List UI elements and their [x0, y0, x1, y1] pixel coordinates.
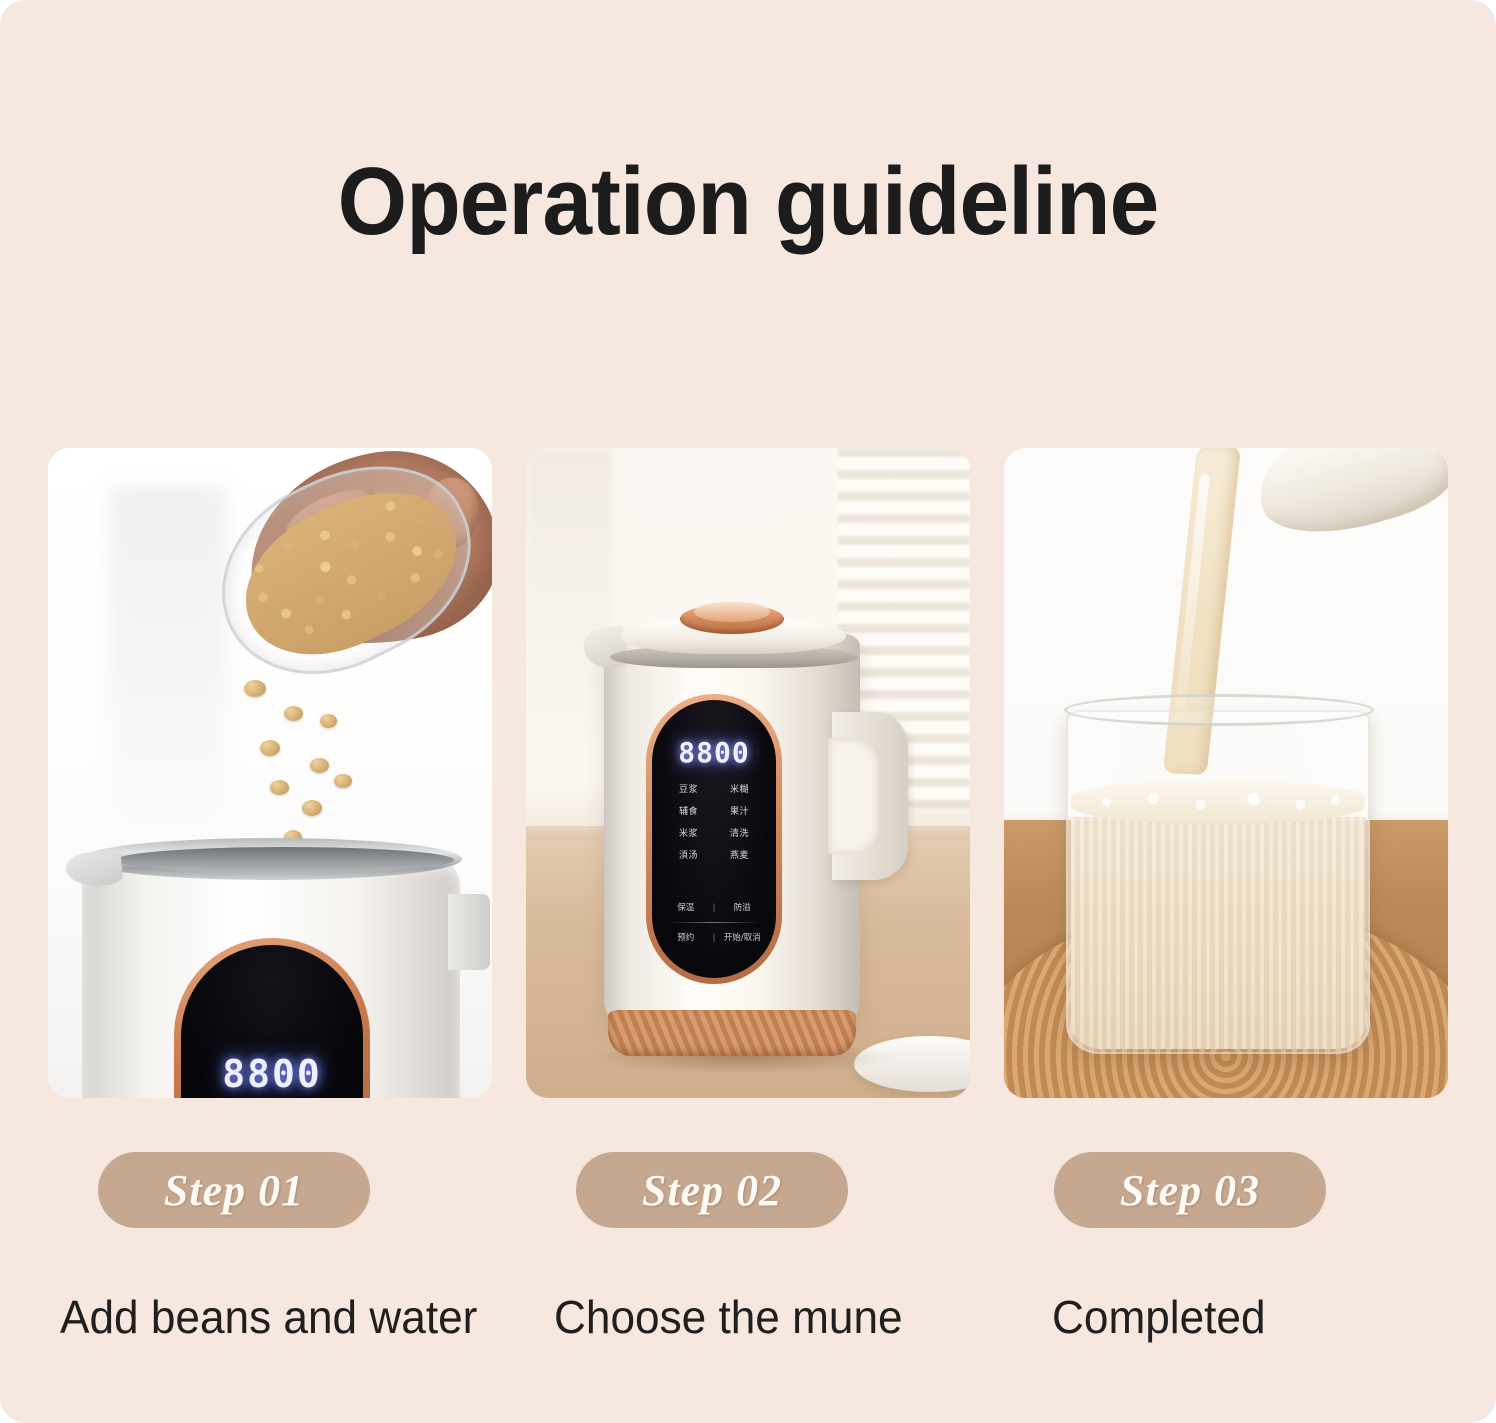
maker-handle: [448, 894, 490, 970]
falling-soybean: [310, 758, 329, 773]
step-1-badge-cell: Step 01: [48, 1152, 492, 1228]
step-2-caption: Choose the mune: [554, 1290, 953, 1344]
step-3-caption: Completed: [1052, 1290, 1432, 1344]
step-3-badge-label: Step 03: [1120, 1165, 1260, 1216]
divider: |: [711, 902, 718, 912]
operation-guideline-page: Operation guideline: [0, 0, 1496, 1423]
menu-button[interactable]: 米浆: [666, 830, 711, 839]
milk-foam: [1071, 780, 1365, 824]
keep-warm-button[interactable]: 保温: [664, 901, 708, 913]
page-title: Operation guideline: [52, 152, 1443, 253]
maker-handle: [832, 712, 908, 880]
menu-button[interactable]: 辅食: [666, 808, 711, 817]
step-3-caption-cell: Completed: [1004, 1290, 1448, 1360]
step-images-row: 8800: [48, 448, 1448, 1098]
menu-button[interactable]: 豆浆: [666, 786, 711, 795]
menu-button[interactable]: 清洗: [717, 830, 762, 839]
step-2-badge[interactable]: Step 02: [576, 1152, 848, 1228]
step-3-image: [1004, 448, 1448, 1098]
step-2-badge-label: Step 02: [642, 1165, 782, 1216]
falling-soybean: [320, 714, 337, 728]
falling-soybean: [260, 740, 280, 756]
control-row: 预约 | 开始/取消: [664, 931, 764, 943]
led-display: 8800: [181, 1052, 363, 1096]
control-row: 保温 | 防溢: [664, 901, 764, 913]
divider: |: [711, 932, 718, 942]
menu-button[interactable]: 米糊: [717, 786, 762, 795]
divider-line: [668, 922, 760, 923]
glass-rim: [1064, 694, 1374, 726]
step-3-badge[interactable]: Step 03: [1054, 1152, 1326, 1228]
drinking-glass: [1066, 710, 1370, 1054]
step-2-badge-cell: Step 02: [526, 1152, 970, 1228]
maker-lid-knob-top: [694, 602, 770, 622]
step-3-badge-cell: Step 03: [1004, 1152, 1448, 1228]
step-1-caption-cell: Add beans and water: [48, 1290, 492, 1360]
falling-soybean: [270, 780, 289, 795]
step-badges-row: Step 01 Step 02 Step 03: [48, 1152, 1448, 1228]
step-captions-row: Add beans and water Choose the mune Comp…: [48, 1290, 1448, 1360]
step-1-badge[interactable]: Step 01: [98, 1152, 370, 1228]
step-1-badge-label: Step 01: [164, 1165, 304, 1216]
control-panel: 8800 豆浆 米糊 辅食 果汁 米浆 清洗 湏汤 燕麦: [652, 700, 776, 978]
maker-rim: [80, 838, 462, 880]
control-button-group: 保温 | 防溢 预约 | 开始/取消: [664, 901, 764, 952]
step-1-caption: Add beans and water: [60, 1290, 475, 1344]
falling-soybean: [334, 774, 352, 788]
maker-inner-opening: [116, 847, 454, 873]
step-2-caption-cell: Choose the mune: [526, 1290, 970, 1360]
start-cancel-button[interactable]: 开始/取消: [721, 931, 765, 943]
maker-base-band: [608, 1010, 856, 1056]
step-2-image: 8800 豆浆 米糊 辅食 果汁 米浆 清洗 湏汤 燕麦: [526, 448, 970, 1098]
anti-overflow-button[interactable]: 防溢: [721, 901, 765, 913]
led-display: 8800: [652, 736, 776, 769]
menu-button[interactable]: 燕麦: [717, 852, 762, 861]
menu-button-grid: 豆浆 米糊 辅食 果汁 米浆 清洗 湏汤 燕麦: [666, 786, 762, 861]
falling-soybean: [302, 800, 322, 816]
appointment-button[interactable]: 预约: [664, 931, 708, 943]
control-panel-bezel: 8800 豆浆 米糊 辅食 果汁 米浆 清洗 湏汤 燕麦: [646, 694, 782, 984]
falling-soybean: [284, 706, 303, 721]
control-panel-screen: 8800: [181, 945, 363, 1098]
soy-milk: [1071, 817, 1365, 1049]
step-1-image: 8800: [48, 448, 492, 1098]
maker-spout: [64, 849, 123, 889]
soy-milk-maker: 8800: [66, 838, 476, 1098]
falling-soybean: [244, 680, 266, 697]
menu-button[interactable]: 湏汤: [666, 852, 711, 861]
soy-milk-maker: 8800 豆浆 米糊 辅食 果汁 米浆 清洗 湏汤 燕麦: [586, 562, 916, 1062]
menu-button[interactable]: 果汁: [717, 808, 762, 817]
